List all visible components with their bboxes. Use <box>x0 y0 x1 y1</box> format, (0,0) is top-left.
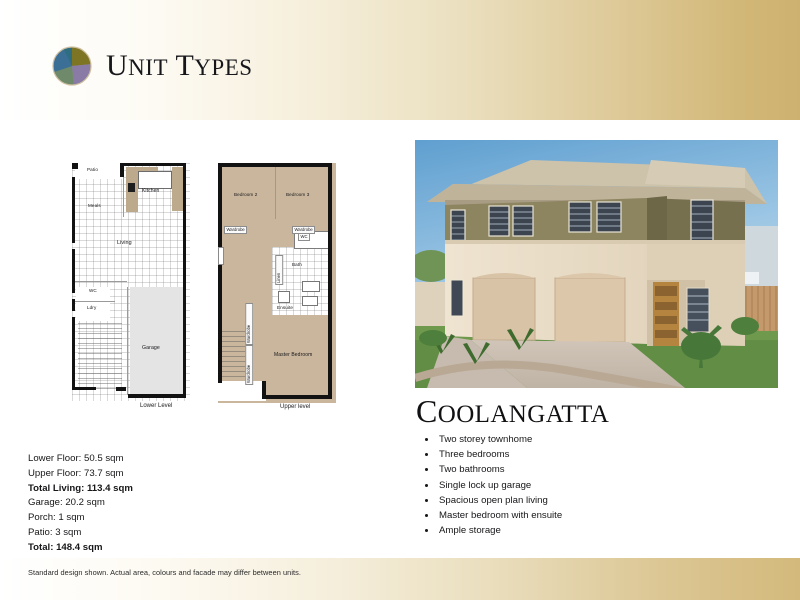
room-label-bath: Bath <box>292 263 302 268</box>
room-label-living: Living <box>117 241 132 246</box>
bottom-banner <box>0 558 800 600</box>
area-label: Lower Floor: <box>28 453 81 464</box>
floor-plan-lower: Patio Kitchen Meals Living WC Ldry Garag… <box>72 163 190 401</box>
area-row: Porch: 1 sqm <box>28 511 133 526</box>
area-value: 50.5 sqm <box>84 453 123 464</box>
area-value: 148.4 sqm <box>56 542 102 553</box>
property-name-initial: C <box>416 393 438 429</box>
area-value: 3 sqm <box>55 527 81 538</box>
townhouse-exterior-render <box>415 140 778 388</box>
page-title: UNIT TYPES <box>106 49 253 83</box>
partition-garage <box>127 287 128 395</box>
room-label-garage: Garage <box>142 346 160 351</box>
room-label-linen: Linen <box>275 255 283 285</box>
wall-right-upper-plan <box>328 163 332 399</box>
wall-right-lower <box>183 287 186 397</box>
wall-bottom-upper <box>262 395 330 399</box>
wall-left-upper <box>72 177 75 243</box>
wall-right-upper <box>183 163 186 287</box>
room-label-wc: WC <box>89 289 97 294</box>
area-row-total-living: Total Living: 113.4 sqm <box>28 482 133 497</box>
partition-bedrooms <box>275 167 276 219</box>
area-row: Garage: 20.2 sqm <box>28 496 133 511</box>
partition-ldry <box>75 301 115 302</box>
room-label-kitchen: Kitchen <box>142 189 159 194</box>
partition-meals <box>123 177 124 217</box>
floor-plan-upper: Bedroom 2 Bedroom 3 Wardrobe Wardrobe Wa… <box>218 163 336 403</box>
area-label: Garage: <box>28 497 63 508</box>
area-label: Patio: <box>28 527 53 538</box>
garage-area-fill <box>130 287 186 397</box>
plan-caption-upper: Upper level <box>280 404 310 410</box>
room-label-wardrobe-4: Wardrobe <box>245 345 253 385</box>
wall-corner-tl <box>72 163 78 169</box>
wall-bottom-stub <box>116 387 126 391</box>
feature-list: Two storey townhome Three bedrooms Two b… <box>416 432 562 538</box>
room-label-ensuite: Ensuite <box>277 306 293 311</box>
plan-lower-body: Patio Kitchen Meals Living WC Ldry Garag… <box>72 163 190 401</box>
room-label-patio: Patio <box>87 168 98 173</box>
patio-area-fill <box>75 163 123 179</box>
room-label-ldry: Ldry <box>87 306 96 311</box>
wall-left-u1 <box>218 163 222 247</box>
room-label-meals: Meals <box>88 204 101 209</box>
area-value: 113.4 sqm <box>87 483 133 494</box>
room-label-bedroom3: Bedroom 3 <box>286 193 309 198</box>
area-value: 1 sqm <box>58 512 84 523</box>
plan-upper-body: Bedroom 2 Bedroom 3 Wardrobe Wardrobe Wa… <box>218 163 336 403</box>
wall-left-lower2 <box>72 317 75 387</box>
vanity-fixture <box>302 296 318 306</box>
area-specification-list: Lower Floor: 50.5 sqm Upper Floor: 73.7 … <box>28 452 133 556</box>
list-item: Single lock up garage <box>437 478 562 493</box>
list-item: Spacious open plan living <box>437 493 562 508</box>
plan-caption-lower: Lower Level <box>140 403 172 409</box>
wall-top <box>124 163 186 166</box>
list-item: Ample storage <box>437 523 562 538</box>
list-item: Two storey townhome <box>437 432 562 447</box>
area-label: Total Living: <box>28 483 84 494</box>
brand-lockup: UNIT TYPES <box>52 46 253 86</box>
disclaimer-text: Standard design shown. Actual area, colo… <box>28 568 301 577</box>
room-label-wc-upper: WC <box>298 233 310 241</box>
area-label: Upper Floor: <box>28 468 81 479</box>
property-name-heading: COOLANGATTA <box>416 393 609 430</box>
area-label: Porch: <box>28 512 56 523</box>
room-label-wardrobe-3: Wardrobe <box>245 303 253 345</box>
segmented-circle-logo-icon <box>52 46 92 86</box>
area-row: Lower Floor: 50.5 sqm <box>28 452 133 467</box>
area-label: Total: <box>28 542 53 553</box>
window-left <box>218 247 224 265</box>
partition-wc <box>75 281 127 282</box>
property-name-rest: OOLANGATTA <box>438 401 609 428</box>
bath-tub-fixture <box>302 281 320 292</box>
stair-void-fill <box>218 381 266 401</box>
stairs-hatch <box>78 323 122 389</box>
wall-left-u2 <box>218 263 222 383</box>
kitchen-island <box>138 171 172 189</box>
list-item: Master bedroom with ensuite <box>437 508 562 523</box>
wall-bottom-garage <box>128 394 186 398</box>
cooktop-icon <box>128 183 135 192</box>
room-label-wardrobe-1: Wardrobe <box>224 226 247 234</box>
shower-fixture <box>278 291 290 303</box>
wall-corner-bl <box>218 379 222 383</box>
area-row: Patio: 3 sqm <box>28 526 133 541</box>
list-item: Two bathrooms <box>437 462 562 477</box>
area-value: 20.2 sqm <box>65 497 104 508</box>
room-label-bedroom2: Bedroom 2 <box>234 193 257 198</box>
area-value: 73.7 sqm <box>84 468 123 479</box>
wall-left-mid <box>72 249 75 293</box>
area-row: Upper Floor: 73.7 sqm <box>28 467 133 482</box>
list-item: Three bedrooms <box>437 447 562 462</box>
room-label-master-bedroom: Master Bedroom <box>274 353 312 358</box>
wall-bottom-left <box>72 387 96 390</box>
area-row-total: Total: 148.4 sqm <box>28 541 133 556</box>
